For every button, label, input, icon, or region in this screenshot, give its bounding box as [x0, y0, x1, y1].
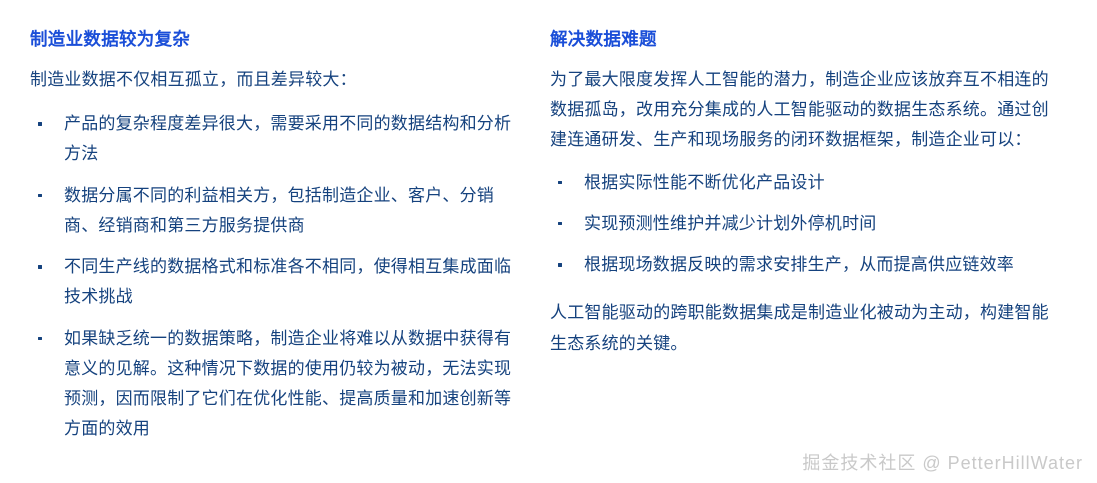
- list-item: 数据分属不同的利益相关方，包括制造企业、客户、分销商、经销商和第三方服务提供商: [30, 181, 520, 242]
- right-intro-paragraph: 为了最大限度发挥人工智能的潜力，制造企业应该放弃互不相连的数据孤岛，改用充分集成…: [550, 65, 1062, 156]
- bullet-dot-icon: [38, 265, 42, 269]
- list-item-label: 数据分属不同的利益相关方，包括制造企业、客户、分销商、经销商和第三方服务提供商: [64, 186, 494, 235]
- list-item: 不同生产线的数据格式和标准各不相同，使得相互集成面临技术挑战: [30, 252, 520, 313]
- left-bullet-list: 产品的复杂程度差异很大，需要采用不同的数据结构和分析方法 数据分属不同的利益相关…: [30, 109, 520, 445]
- bullet-dot-icon: [558, 222, 562, 226]
- right-closing-paragraph: 人工智能驱动的跨职能数据集成是制造业化被动为主动，构建智能生态系统的关键。: [550, 298, 1062, 359]
- right-column: 解决数据难题 为了最大限度发挥人工智能的潜力，制造企业应该放弃互不相连的数据孤岛…: [540, 0, 1080, 359]
- list-item: 根据现场数据反映的需求安排生产，从而提高供应链效率: [550, 250, 1062, 280]
- list-item-label: 根据实际性能不断优化产品设计: [584, 173, 825, 192]
- list-item: 产品的复杂程度差异很大，需要采用不同的数据结构和分析方法: [30, 109, 520, 170]
- list-item-label: 不同生产线的数据格式和标准各不相同，使得相互集成面临技术挑战: [64, 257, 511, 306]
- right-bullet-list: 根据实际性能不断优化产品设计 实现预测性维护并减少计划外停机时间 根据现场数据反…: [550, 168, 1062, 281]
- bullet-dot-icon: [558, 263, 562, 267]
- left-section-heading: 制造业数据较为复杂: [30, 28, 520, 51]
- list-item: 如果缺乏统一的数据策略，制造企业将难以从数据中获得有意义的见解。这种情况下数据的…: [30, 324, 520, 445]
- slide-canvas: 制造业数据较为复杂 制造业数据不仅相互孤立，而且差异较大： 产品的复杂程度差异很…: [0, 0, 1097, 483]
- left-intro-paragraph: 制造业数据不仅相互孤立，而且差异较大：: [30, 65, 520, 95]
- list-item-label: 根据现场数据反映的需求安排生产，从而提高供应链效率: [584, 255, 1014, 274]
- bullet-dot-icon: [558, 181, 562, 185]
- list-item-label: 实现预测性维护并减少计划外停机时间: [584, 214, 876, 233]
- bullet-dot-icon: [38, 122, 42, 126]
- two-column-layout: 制造业数据较为复杂 制造业数据不仅相互孤立，而且差异较大： 产品的复杂程度差异很…: [0, 0, 1097, 483]
- bullet-dot-icon: [38, 194, 42, 198]
- left-column: 制造业数据较为复杂 制造业数据不仅相互孤立，而且差异较大： 产品的复杂程度差异很…: [0, 0, 540, 445]
- list-item-label: 产品的复杂程度差异很大，需要采用不同的数据结构和分析方法: [64, 114, 511, 163]
- watermark-text: 掘金技术社区 @ PetterHillWater: [802, 449, 1083, 475]
- bullet-dot-icon: [38, 337, 42, 341]
- right-section-heading: 解决数据难题: [550, 28, 1062, 51]
- list-item-label: 如果缺乏统一的数据策略，制造企业将难以从数据中获得有意义的见解。这种情况下数据的…: [64, 329, 511, 439]
- list-item: 实现预测性维护并减少计划外停机时间: [550, 209, 1062, 239]
- list-item: 根据实际性能不断优化产品设计: [550, 168, 1062, 198]
